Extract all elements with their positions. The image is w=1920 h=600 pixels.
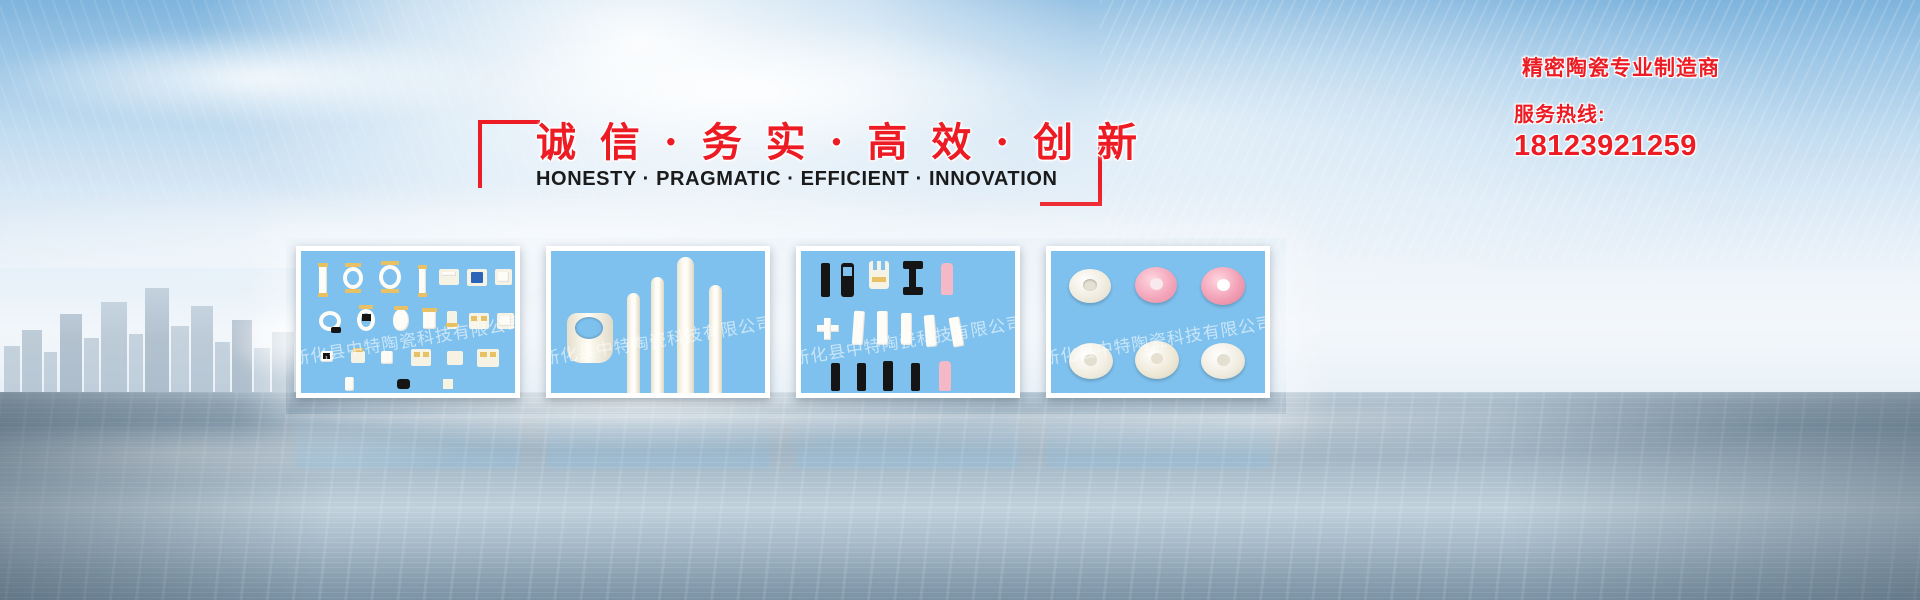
product-panel-1-image: 新化县中特陶瓷科技有限公司	[301, 251, 515, 393]
bracket-top-left	[478, 120, 540, 188]
product-panel-2-image: 新化县中特陶瓷科技有限公司	[551, 251, 765, 393]
product-panel-3-image: 新化县中特陶瓷科技有限公司	[801, 251, 1015, 393]
product-panel-1[interactable]: 新化县中特陶瓷科技有限公司	[296, 246, 520, 398]
product-panel-row: 新化县中特陶瓷科技有限公司 新化县中特陶瓷科技有限公司	[296, 246, 1270, 398]
product-panel-3[interactable]: 新化县中特陶瓷科技有限公司	[796, 246, 1020, 398]
contact-block: 精密陶瓷专业制造商 服务热线: 18123921259	[1508, 52, 1908, 163]
slogan-block: 诚 信 · 务 实 · 高 效 · 创 新 HONESTY · PRAGMATI…	[478, 108, 1102, 206]
company-tagline: 精密陶瓷专业制造商	[1522, 52, 1908, 82]
product-panel-4-image: 新化县中特陶瓷科技有限公司	[1051, 251, 1265, 393]
reflection	[546, 398, 770, 468]
hotline-label: 服务热线:	[1514, 98, 1908, 127]
reflection	[796, 398, 1020, 468]
hero-banner: 诚 信 · 务 实 · 高 效 · 创 新 HONESTY · PRAGMATI…	[0, 0, 1920, 600]
slogan-chinese: 诚 信 · 务 实 · 高 效 · 创 新	[536, 110, 1044, 168]
reflection	[296, 398, 520, 468]
ground-shadow-right	[1400, 392, 1920, 600]
slogan-english: HONESTY · PRAGMATIC · EFFICIENT · INNOVA…	[536, 168, 1044, 191]
product-panel-4[interactable]: 新化县中特陶瓷科技有限公司	[1046, 246, 1270, 398]
reflection	[1046, 398, 1270, 468]
hotline-number[interactable]: 18123921259	[1514, 130, 1908, 163]
panel-reflections	[296, 398, 1270, 468]
product-panel-2[interactable]: 新化县中特陶瓷科技有限公司	[546, 246, 770, 398]
